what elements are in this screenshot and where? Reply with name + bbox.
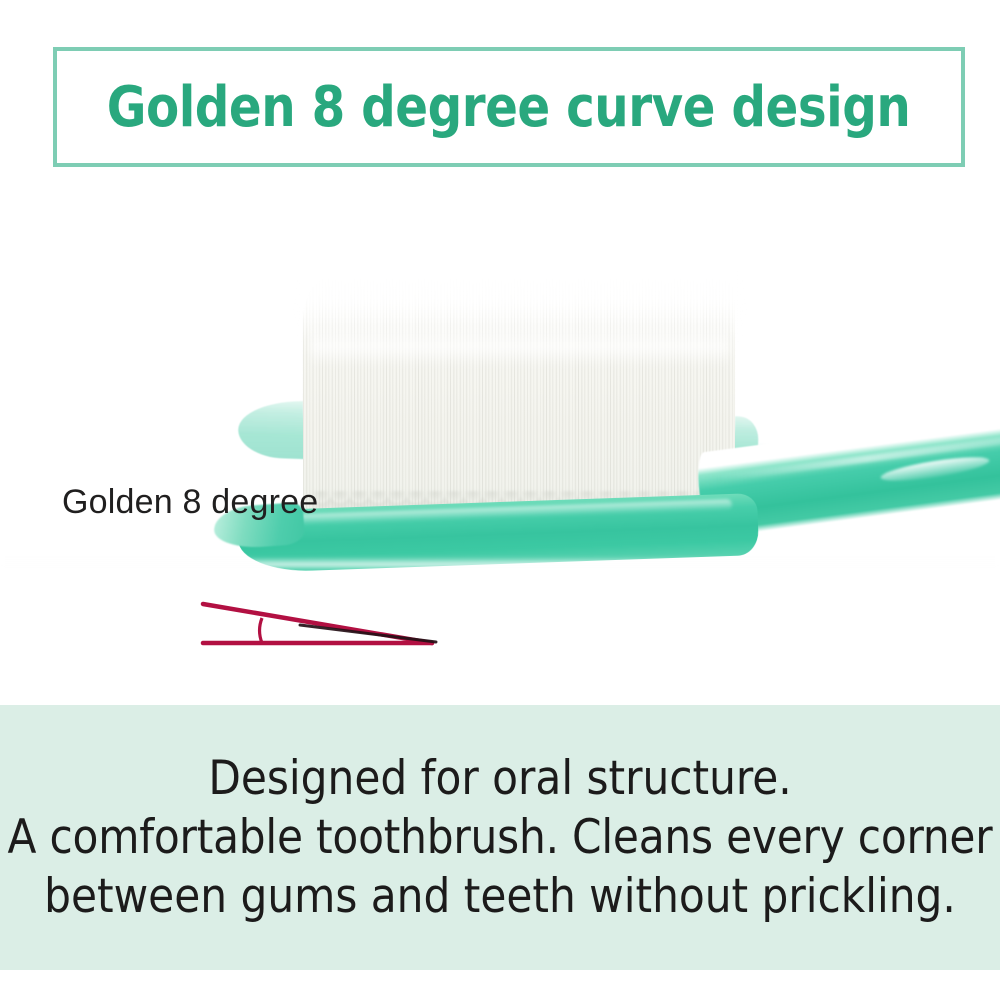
angle-annotation xyxy=(0,350,1000,705)
product-marketing-image: Golden 8 degree curve design xyxy=(0,0,1000,1000)
caption-line-1: Designed for oral structure. xyxy=(208,749,791,808)
page-title: Golden 8 degree curve design xyxy=(107,75,911,140)
angle-label: Golden 8 degree xyxy=(62,483,318,522)
bottom-white-margin xyxy=(0,970,1000,1000)
angle-arc xyxy=(260,618,262,643)
title-banner: Golden 8 degree curve design xyxy=(53,47,965,167)
product-photo xyxy=(0,175,1000,705)
caption-line-3: between gums and teeth without prickling… xyxy=(44,867,956,926)
brush-underside-shadow xyxy=(300,625,436,642)
caption-line-2: A comfortable toothbrush. Cleans every c… xyxy=(8,808,993,867)
bristles-tip-fade xyxy=(295,271,745,343)
caption-panel: Designed for oral structure. A comfortab… xyxy=(0,705,1000,970)
